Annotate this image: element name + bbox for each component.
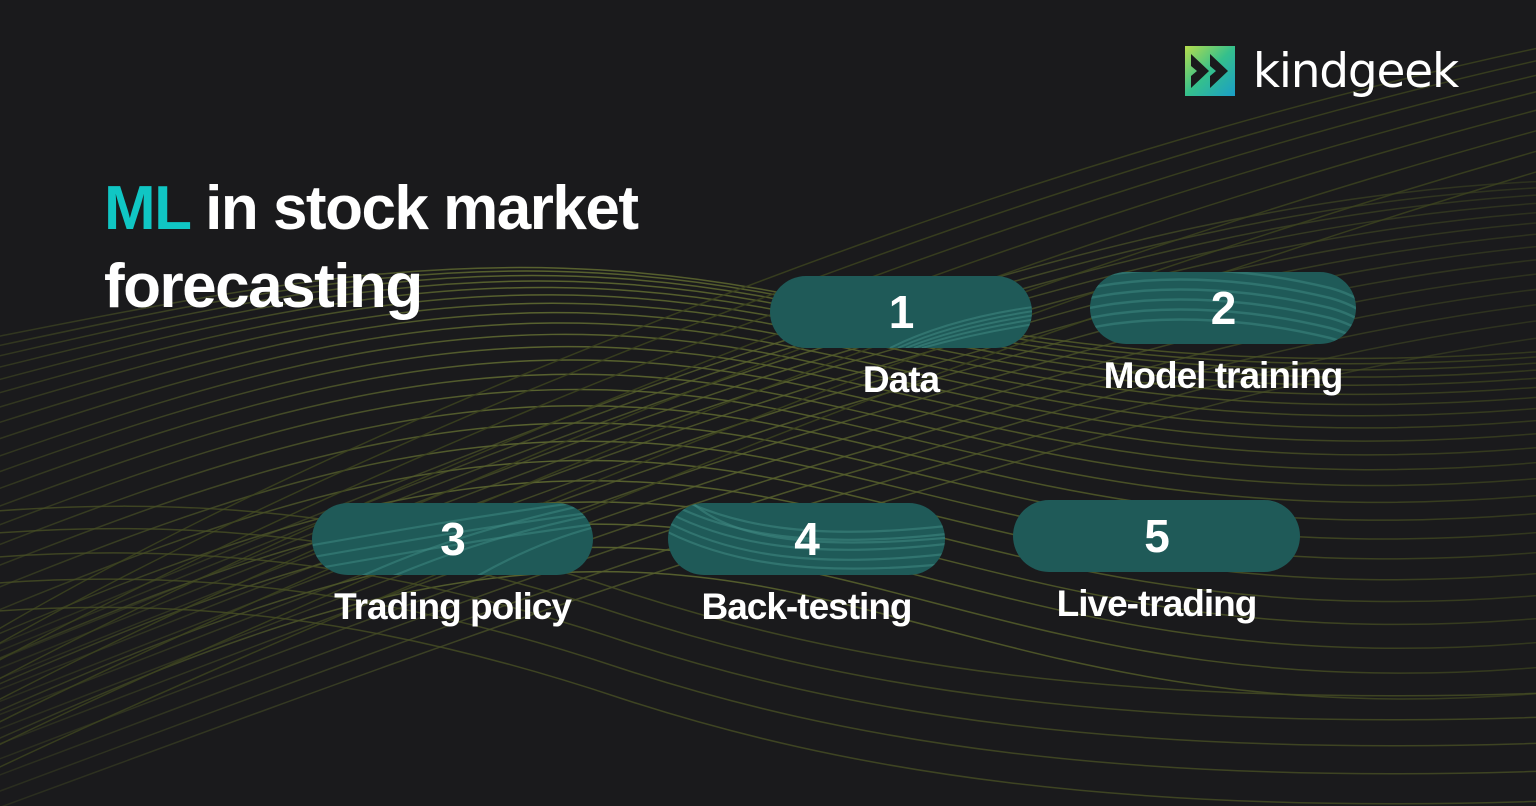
step-2-label: Model training xyxy=(1090,356,1356,397)
step-5-number: 5 xyxy=(1144,513,1169,559)
step-3-number: 3 xyxy=(440,516,465,562)
step-4[interactable]: 4 Back-testing xyxy=(668,503,945,628)
step-2-pill: 2 xyxy=(1090,272,1356,344)
step-3[interactable]: 3 Trading policy xyxy=(312,503,593,628)
brand-name: kindgeek xyxy=(1253,48,1458,95)
step-1-number: 1 xyxy=(889,289,914,335)
double-chevron-right-icon xyxy=(1185,46,1235,96)
step-4-number: 4 xyxy=(794,516,819,562)
step-2-number: 2 xyxy=(1211,285,1236,331)
step-1-pill: 1 xyxy=(770,276,1032,348)
step-5-label: Live-trading xyxy=(1013,584,1300,625)
step-2[interactable]: 2 Model training xyxy=(1090,272,1356,397)
brand-logo[interactable]: kindgeek xyxy=(1185,46,1458,96)
infographic-slide: kindgeek ML in stock market forecasting … xyxy=(0,0,1536,806)
step-4-label: Back-testing xyxy=(668,587,945,628)
background-wave-pattern xyxy=(0,0,1536,806)
title-accent-word: ML xyxy=(104,174,189,243)
step-5[interactable]: 5 Live-trading xyxy=(1013,500,1300,625)
step-3-pill: 3 xyxy=(312,503,593,575)
step-3-label: Trading policy xyxy=(312,587,593,628)
page-title: ML in stock market forecasting xyxy=(104,170,804,325)
step-5-pill: 5 xyxy=(1013,500,1300,572)
step-4-pill: 4 xyxy=(668,503,945,575)
step-1-label: Data xyxy=(770,360,1032,401)
step-1[interactable]: 1 Data xyxy=(770,276,1032,401)
